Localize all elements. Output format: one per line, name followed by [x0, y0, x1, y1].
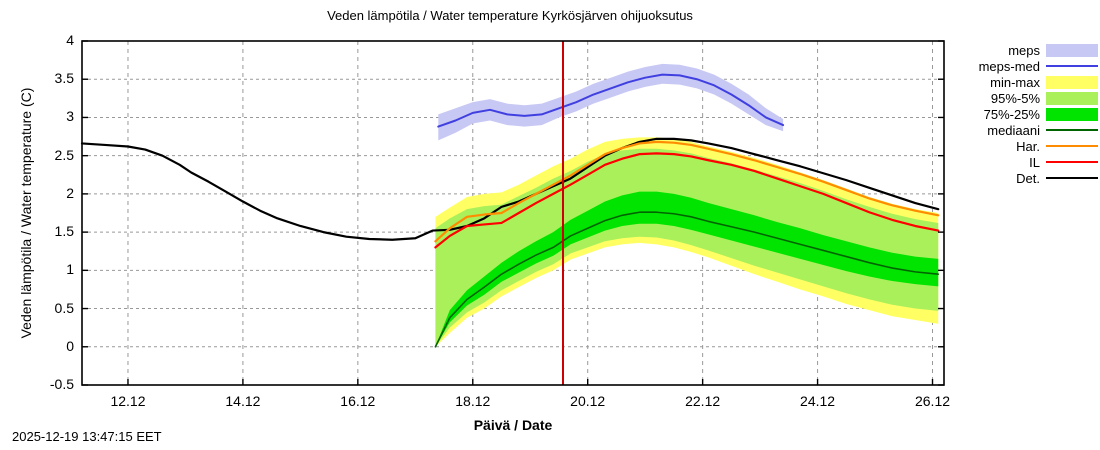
legend-label: IL — [1029, 155, 1046, 170]
y-tick-label: 0.5 — [55, 300, 74, 316]
x-tick-label: 24.12 — [800, 393, 835, 409]
legend-label: meps — [1008, 43, 1046, 58]
legend-item-95-5-: 95%-5% — [962, 90, 1098, 106]
plot-area — [0, 0, 1100, 450]
legend-label: min-max — [990, 75, 1046, 90]
legend-line-swatch — [1046, 177, 1098, 179]
legend-line-swatch — [1046, 145, 1098, 147]
legend-label: Har. — [1016, 139, 1046, 154]
x-tick-label: 20.12 — [570, 393, 605, 409]
legend-item-75-25-: 75%-25% — [962, 106, 1098, 122]
legend-item-il: IL — [962, 154, 1098, 170]
y-tick-label: 2 — [66, 185, 74, 201]
legend-label: Det. — [1016, 171, 1046, 186]
timestamp-label: 2025-12-19 13:47:15 EET — [12, 429, 162, 444]
y-tick-label: -0.5 — [50, 376, 74, 392]
x-tick-label: 16.12 — [340, 393, 375, 409]
x-tick-label: 18.12 — [455, 393, 490, 409]
legend-item-har-: Har. — [962, 138, 1098, 154]
legend-band-swatch — [1046, 108, 1098, 121]
legend-label: 95%-5% — [991, 91, 1046, 106]
y-tick-label: 3 — [66, 108, 74, 124]
legend-item-meps-med: meps-med — [962, 58, 1098, 74]
water-temperature-chart: Veden lämpötila / Water temperature Kyrk… — [0, 0, 1100, 450]
y-tick-label: 3.5 — [55, 70, 74, 86]
x-tick-label: 26.12 — [915, 393, 950, 409]
legend-item-mediaani: mediaani — [962, 122, 1098, 138]
y-tick-label: 4 — [66, 32, 74, 48]
legend-label: meps-med — [979, 59, 1046, 74]
legend-label: 75%-25% — [984, 107, 1046, 122]
legend-line-swatch — [1046, 161, 1098, 163]
legend-band-swatch — [1046, 92, 1098, 105]
x-tick-label: 22.12 — [685, 393, 720, 409]
y-tick-label: 1.5 — [55, 223, 74, 239]
legend-label: mediaani — [987, 123, 1046, 138]
legend-item-meps: meps — [962, 42, 1098, 58]
legend-line-swatch — [1046, 129, 1098, 131]
chart-legend: mepsmeps-medmin-max95%-5%75%-25%mediaani… — [962, 42, 1098, 186]
y-tick-label: 0 — [66, 338, 74, 354]
y-tick-label: 1 — [66, 261, 74, 277]
legend-item-min-max: min-max — [962, 74, 1098, 90]
y-tick-label: 2.5 — [55, 147, 74, 163]
legend-item-det-: Det. — [962, 170, 1098, 186]
legend-line-swatch — [1046, 65, 1098, 67]
legend-band-swatch — [1046, 76, 1098, 89]
x-tick-label: 14.12 — [225, 393, 260, 409]
legend-band-swatch — [1046, 44, 1098, 57]
x-tick-label: 12.12 — [110, 393, 145, 409]
